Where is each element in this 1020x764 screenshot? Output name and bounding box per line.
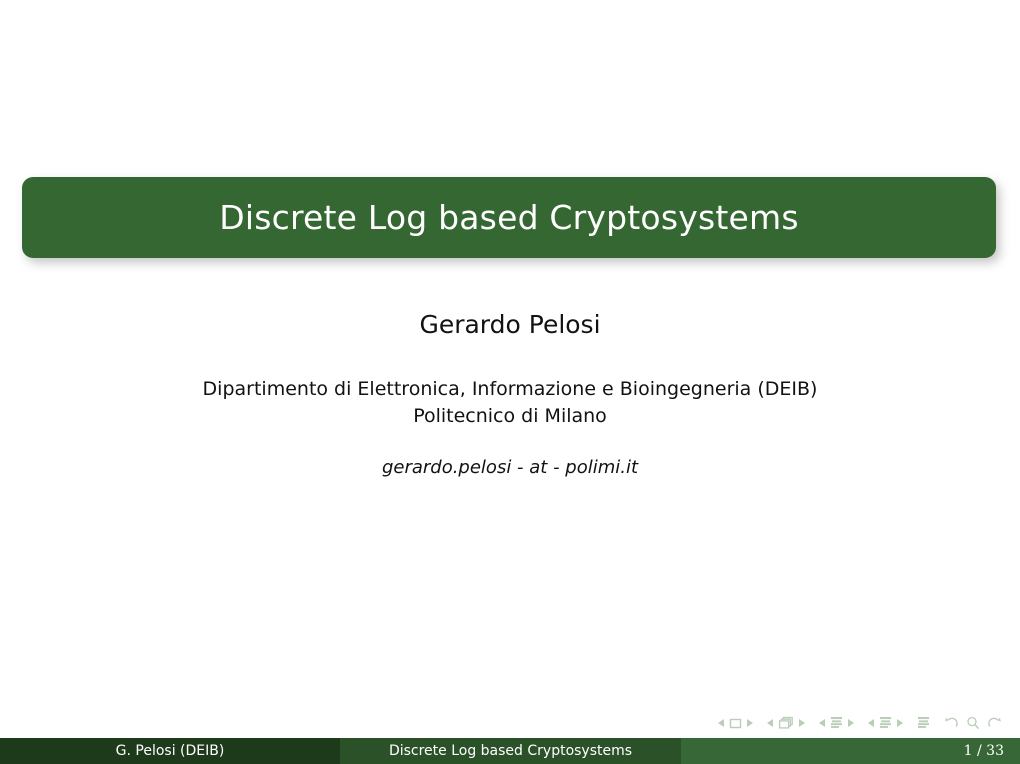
next-section-icon[interactable]	[897, 719, 903, 727]
next-subsection-icon[interactable]	[848, 719, 854, 727]
slide-icon[interactable]	[729, 717, 742, 730]
previous-section-icon[interactable]	[868, 719, 874, 727]
previous-slide-icon[interactable]	[718, 719, 724, 727]
subsection-icon[interactable]	[830, 716, 843, 730]
author-name: Gerardo Pelosi	[0, 308, 1020, 342]
appendix-icon[interactable]	[917, 716, 930, 730]
navigation-symbols	[718, 712, 1002, 734]
footer-author: G. Pelosi (DEIB)	[0, 738, 340, 764]
forward-icon[interactable]	[987, 716, 1002, 730]
footer-bar: G. Pelosi (DEIB) Discrete Log based Cryp…	[0, 738, 1020, 764]
title-block-body: Discrete Log based Cryptosystems	[22, 177, 996, 258]
previous-frame-icon[interactable]	[767, 719, 773, 727]
subsection-navigation-group	[819, 716, 854, 730]
institute-line-2: Politecnico di Milano	[0, 403, 1020, 430]
title-block: Discrete Log based Cryptosystems	[22, 177, 996, 258]
footer-title: Discrete Log based Cryptosystems	[340, 738, 681, 764]
previous-subsection-icon[interactable]	[819, 719, 825, 727]
page-title: Discrete Log based Cryptosystems	[219, 198, 798, 237]
section-icon[interactable]	[879, 716, 892, 730]
slide-navigation-group	[718, 717, 753, 730]
search-icon[interactable]	[966, 716, 980, 730]
institute-line-1: Dipartimento di Elettronica, Informazion…	[0, 376, 1020, 403]
institute: Dipartimento di Elettronica, Informazion…	[0, 376, 1020, 430]
footer-page-number: 1 / 33	[681, 738, 1020, 764]
next-frame-icon[interactable]	[799, 719, 805, 727]
section-navigation-group	[868, 716, 903, 730]
slide-canvas: Discrete Log based Cryptosystems Gerardo…	[0, 0, 1020, 764]
next-slide-icon[interactable]	[747, 719, 753, 727]
frame-navigation-group	[767, 716, 805, 730]
misc-navigation-group	[944, 716, 1002, 730]
author-email: gerardo.pelosi - at - polimi.it	[0, 457, 1020, 478]
appendix-navigation-group	[917, 716, 930, 730]
back-icon[interactable]	[944, 716, 959, 730]
frame-icon[interactable]	[778, 716, 794, 730]
author-block: Gerardo Pelosi Dipartimento di Elettroni…	[0, 308, 1020, 478]
